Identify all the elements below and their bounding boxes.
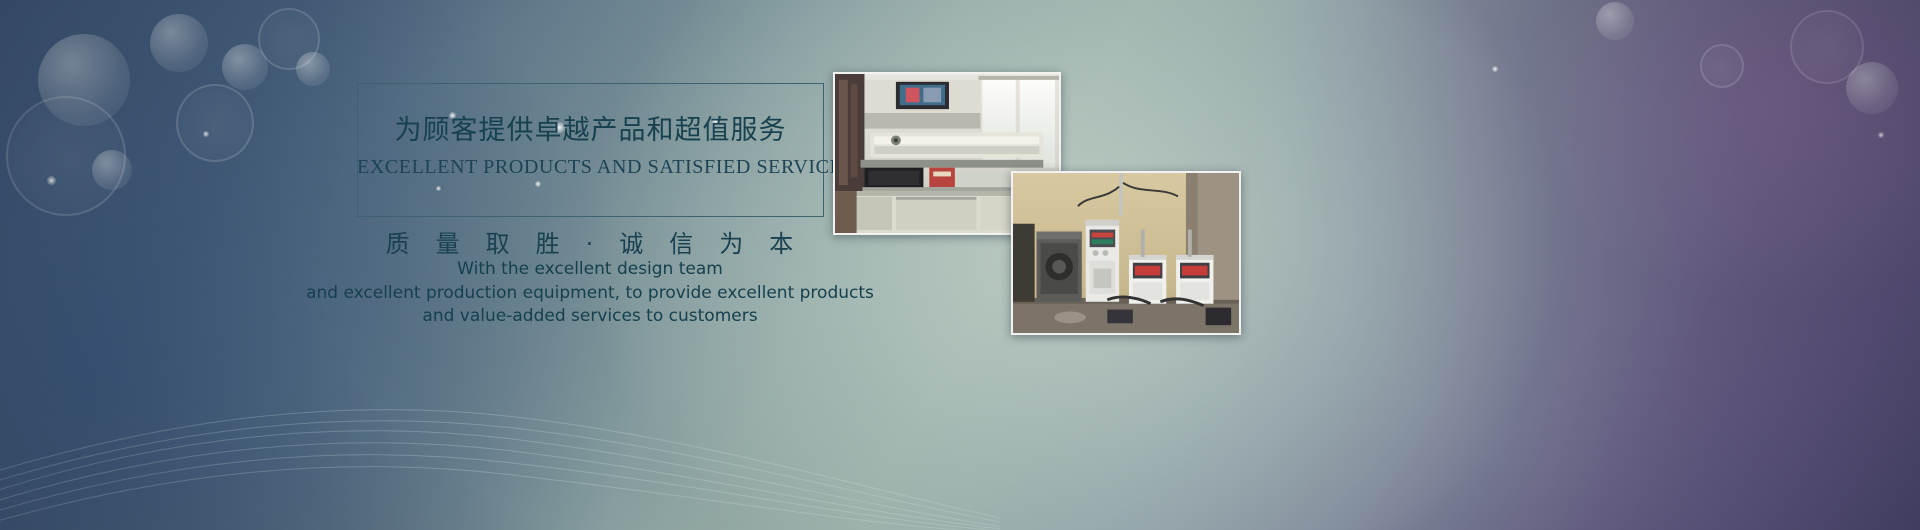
bokeh-circle — [1596, 2, 1634, 40]
bokeh-circle — [1700, 44, 1744, 88]
sparkle-dot — [1492, 66, 1498, 72]
page-title: 为顾客提供卓越产品和超值服务 — [357, 108, 824, 147]
testing-machines-photo — [1011, 171, 1241, 335]
headline-frame — [357, 83, 824, 217]
description-line-2: and excellent production equipment, to p… — [230, 282, 950, 306]
promo-banner: 为顾客提供卓越产品和超值服务 EXCELLENT PRODUCTS AND SA… — [0, 0, 1920, 530]
bokeh-circle — [1846, 62, 1898, 114]
page-subtitle: EXCELLENT PRODUCTS AND SATISFIED SERVICE — [357, 156, 824, 179]
description-paragraph: With the excellent design team and excel… — [230, 258, 950, 329]
description-line-3: and value-added services to customers — [230, 305, 950, 329]
bokeh-circle — [1790, 10, 1864, 84]
description-line-1: With the excellent design team — [230, 258, 950, 282]
slogan-text: 质 量 取 胜 · 诚 信 为 本 — [330, 224, 850, 259]
sparkle-dot — [1878, 132, 1884, 138]
text-column: 为顾客提供卓越产品和超值服务 EXCELLENT PRODUCTS AND SA… — [0, 0, 860, 530]
